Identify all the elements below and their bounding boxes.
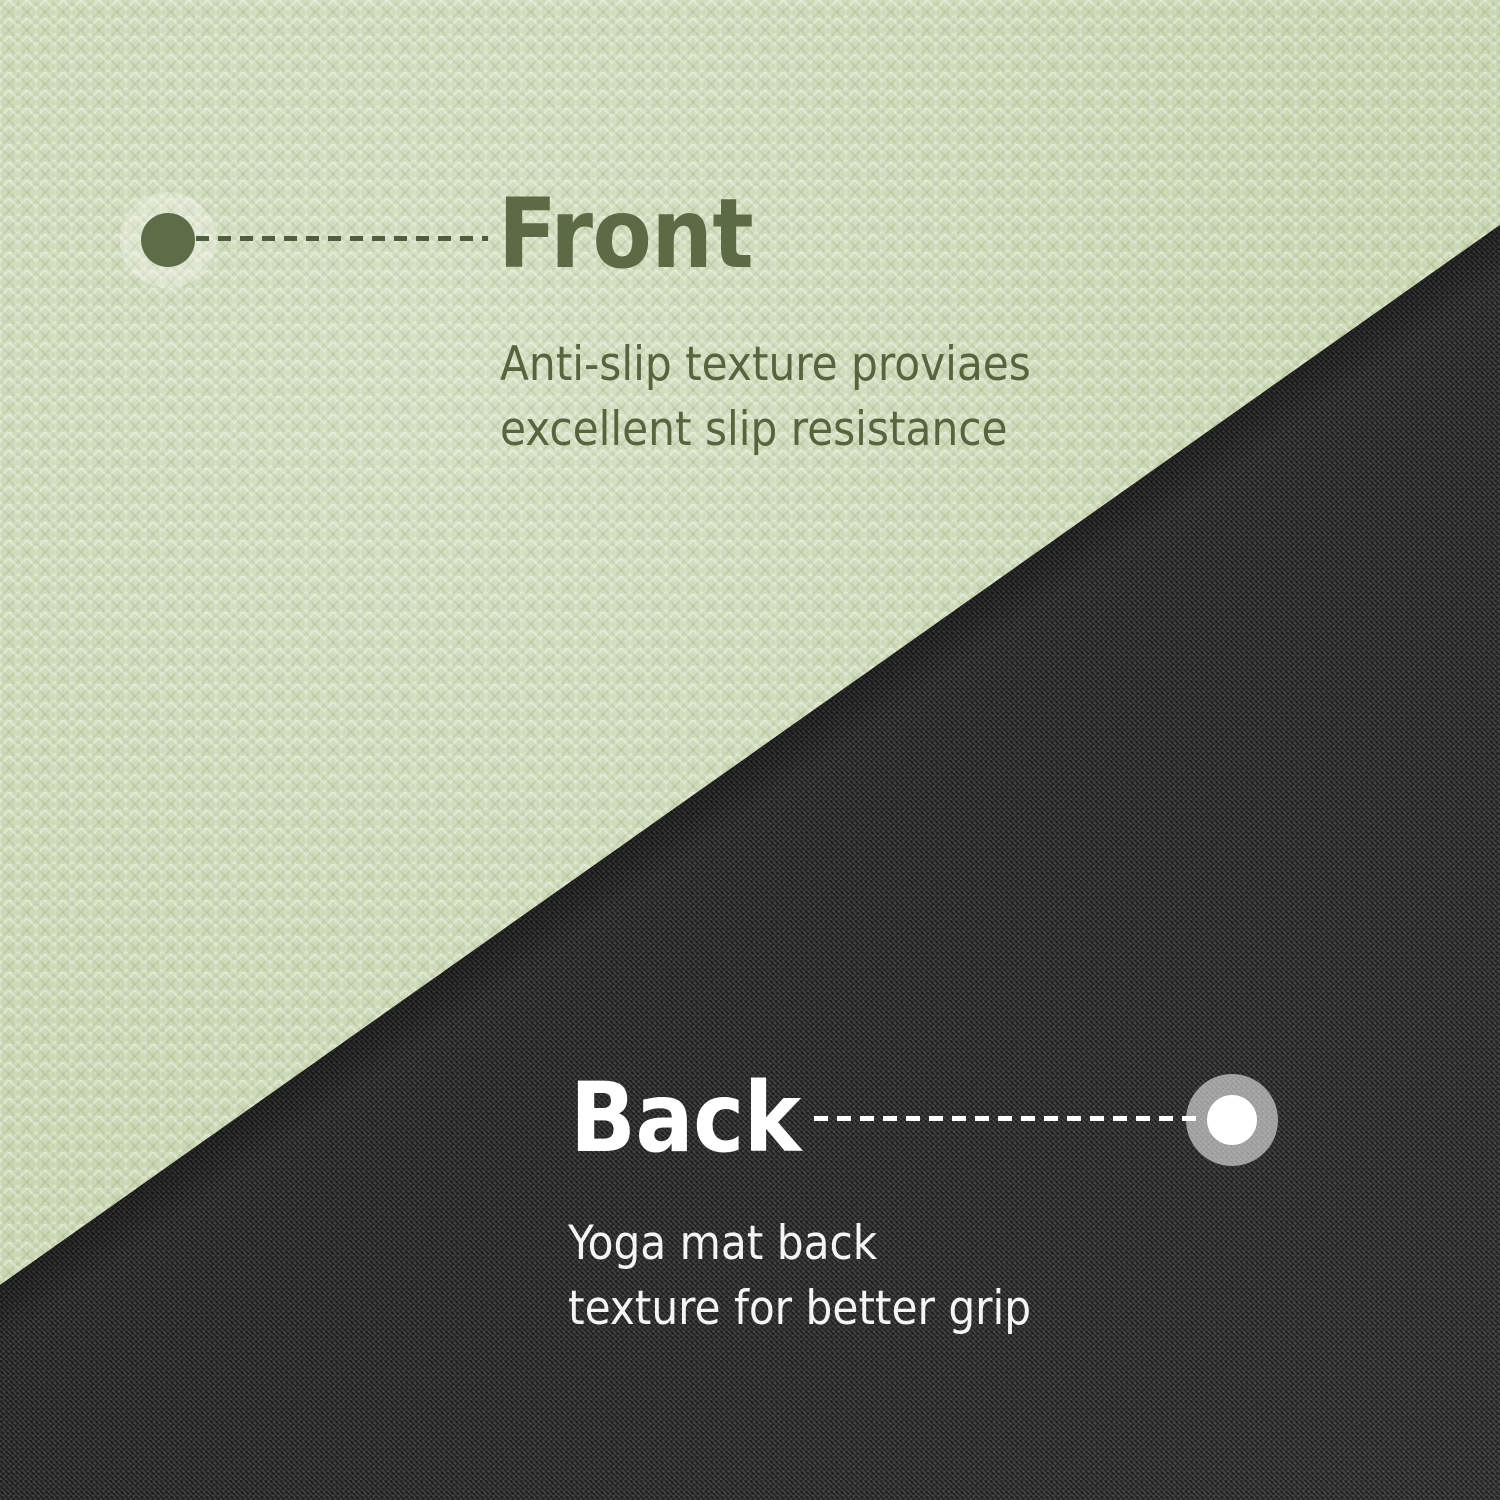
back-description-line-1: Yoga mat back <box>568 1212 877 1277</box>
infographic-canvas: Front Anti-slip texture proviaes excelle… <box>0 0 1500 1500</box>
front-marker-dot-icon <box>141 213 195 267</box>
front-heading: Front <box>498 186 753 282</box>
front-description-line-1: Anti-slip texture proviaes <box>500 333 1031 398</box>
front-leader-line-icon <box>196 236 488 241</box>
back-description-line-2: texture for better grip <box>568 1277 1031 1342</box>
back-marker-dot-icon <box>1207 1095 1257 1145</box>
front-description-line-2: excellent slip resistance <box>500 398 1008 463</box>
back-heading: Back <box>570 1070 801 1166</box>
back-leader-line-icon <box>814 1116 1204 1121</box>
